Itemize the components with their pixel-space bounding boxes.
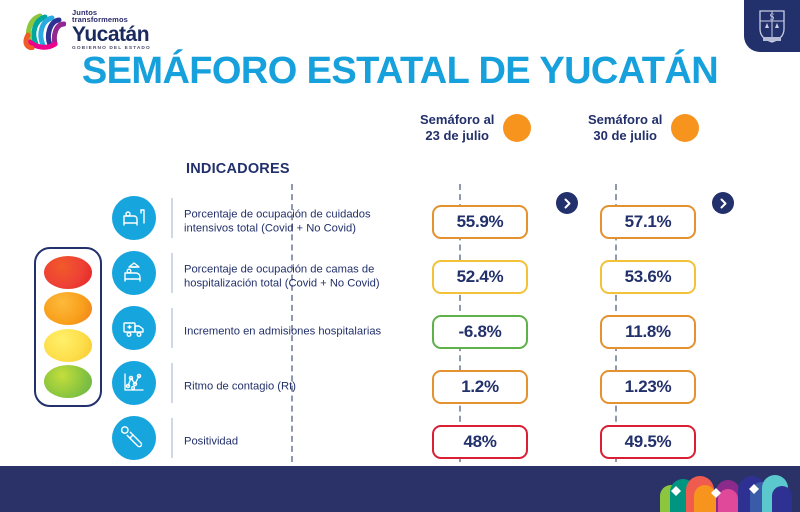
indicator-label: Positividad xyxy=(184,434,399,449)
indicator-label: Ritmo de contagio (Rt) xyxy=(184,379,399,394)
indicator-label: Porcentaje de ocupación de cuidados inte… xyxy=(184,207,399,236)
section-title-indicadores: INDICADORES xyxy=(186,161,290,177)
yucatan-government-logo: Juntos transformemos Yucatán GOBIERNO DE… xyxy=(22,8,154,52)
logo-tagline: Juntos transformemos xyxy=(72,9,154,24)
column-1-label-line1: Semáforo al xyxy=(420,112,494,128)
column-header-1: Semáforo al 23 de julio xyxy=(420,112,531,145)
value-box-col1: 52.4% xyxy=(432,260,528,294)
value-box-col2: 11.8% xyxy=(600,315,696,349)
value-box-col2: 57.1% xyxy=(600,205,696,239)
value-box-col1: -6.8% xyxy=(432,315,528,349)
status-dot-icon xyxy=(671,114,699,142)
table-row: Incremento en admisiones hospitalarias -… xyxy=(112,304,788,359)
column-2-label-line1: Semáforo al xyxy=(588,112,662,128)
row-divider xyxy=(171,418,173,458)
column-2-label-line2: 30 de julio xyxy=(588,128,662,144)
state-coat-of-arms-icon: S xyxy=(757,8,787,44)
yucatan-brand-pattern-icon xyxy=(650,466,800,512)
traffic-light-red xyxy=(44,256,92,289)
semaforo-legend xyxy=(34,247,102,407)
row-divider xyxy=(171,308,173,348)
value-box-col1: 48% xyxy=(432,425,528,459)
value-box-col2: 1.23% xyxy=(600,370,696,404)
traffic-light-green xyxy=(44,365,92,398)
row-divider xyxy=(171,253,173,293)
value-box-col1: 55.9% xyxy=(432,205,528,239)
svg-text:S: S xyxy=(769,12,774,22)
status-dot-icon xyxy=(503,114,531,142)
indicator-label: Incremento en admisiones hospitalarias xyxy=(184,324,399,339)
test-swab-icon xyxy=(112,416,156,460)
column-1-label-line2: 23 de julio xyxy=(420,128,494,144)
row-divider xyxy=(171,363,173,403)
yucatan-ribbon-logo-icon xyxy=(22,10,66,50)
page-footer xyxy=(0,466,800,512)
contagion-chart-icon xyxy=(112,361,156,405)
traffic-light-yellow xyxy=(44,329,92,362)
value-box-col2: 53.6% xyxy=(600,260,696,294)
table-row: Porcentaje de ocupación de cuidados inte… xyxy=(112,194,788,249)
traffic-light-orange xyxy=(44,292,92,325)
table-row: Ritmo de contagio (Rt) 1.2% 1.23% xyxy=(112,359,788,414)
ambulance-icon xyxy=(112,306,156,350)
hospital-bed-iv-icon xyxy=(112,196,156,240)
table-row: Porcentaje de ocupación de camas de hosp… xyxy=(112,249,788,304)
state-seal: S xyxy=(744,0,800,52)
hospital-bed-sign-icon xyxy=(112,251,156,295)
page-title: SEMÁFORO ESTATAL DE YUCATÁN xyxy=(0,50,800,93)
table-row: Positividad 48% 49.5% xyxy=(112,414,788,469)
logo-wordmark: Yucatán xyxy=(72,25,154,45)
indicators-table: Porcentaje de ocupación de cuidados inte… xyxy=(112,194,788,469)
indicator-label: Porcentaje de ocupación de camas de hosp… xyxy=(184,262,399,291)
value-box-col1: 1.2% xyxy=(432,370,528,404)
column-header-2: Semáforo al 30 de julio xyxy=(588,112,699,145)
value-box-col2: 49.5% xyxy=(600,425,696,459)
row-divider xyxy=(171,198,173,238)
